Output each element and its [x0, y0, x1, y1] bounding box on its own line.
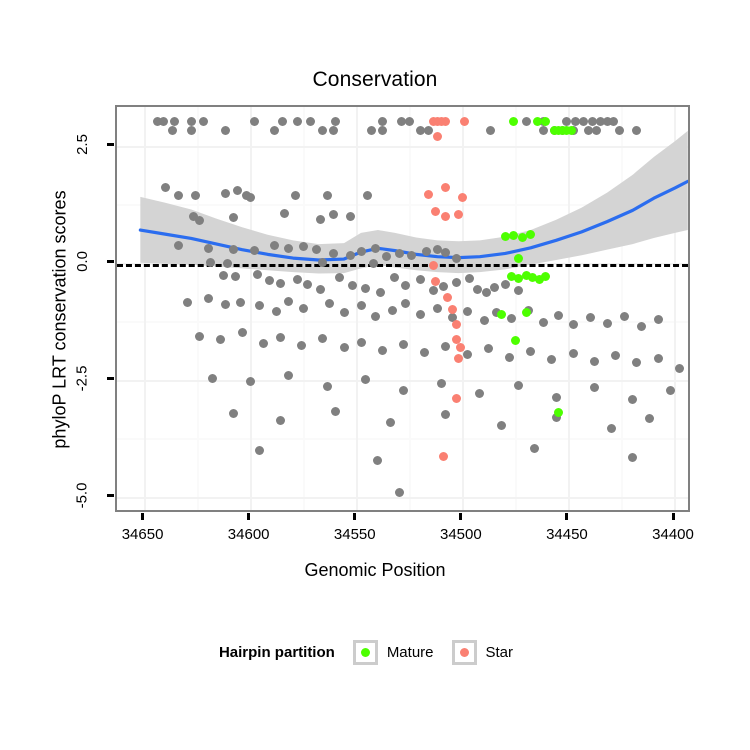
- data-point-other: [357, 247, 366, 256]
- data-point-mature: [509, 117, 518, 126]
- data-point-other: [204, 294, 213, 303]
- data-point-other: [611, 351, 620, 360]
- data-point-other: [329, 249, 338, 258]
- data-point-other: [361, 284, 370, 293]
- data-point-other: [236, 298, 245, 307]
- data-point-star: [429, 261, 438, 270]
- data-point-other: [331, 117, 340, 126]
- plot-panel: [115, 105, 690, 512]
- data-point-other: [376, 288, 385, 297]
- x-axis-tick: [141, 513, 144, 520]
- data-point-star: [452, 394, 461, 403]
- data-point-star: [448, 305, 457, 314]
- data-point-other: [378, 346, 387, 355]
- data-point-other: [539, 318, 548, 327]
- data-point-other: [429, 286, 438, 295]
- data-point-other: [170, 117, 179, 126]
- x-axis-tick: [247, 513, 250, 520]
- data-point-other: [272, 307, 281, 316]
- data-point-other: [340, 343, 349, 352]
- data-point-other: [482, 288, 491, 297]
- data-point-other: [255, 301, 264, 310]
- data-point-other: [325, 299, 334, 308]
- data-point-other: [422, 247, 431, 256]
- data-point-other: [433, 304, 442, 313]
- x-axis-tick: [672, 513, 675, 520]
- data-point-other: [323, 382, 332, 391]
- x-axis-tick-label: 34400: [652, 526, 694, 543]
- legend-key-mature: [353, 640, 378, 665]
- data-point-other: [223, 259, 232, 268]
- data-point-other: [586, 313, 595, 322]
- data-point-star: [452, 320, 461, 329]
- data-point-other: [480, 316, 489, 325]
- data-point-other: [399, 340, 408, 349]
- data-point-other: [250, 117, 259, 126]
- data-point-other: [378, 126, 387, 135]
- data-point-other: [270, 241, 279, 250]
- data-point-other: [401, 299, 410, 308]
- data-point-other: [399, 386, 408, 395]
- data-point-other: [401, 281, 410, 290]
- y-axis-tick: [107, 260, 114, 263]
- data-point-other: [208, 374, 217, 383]
- x-axis-tick: [459, 513, 462, 520]
- x-axis-tick: [353, 513, 356, 520]
- data-point-other: [204, 244, 213, 253]
- x-axis-tick-label: 34600: [228, 526, 270, 543]
- data-point-other: [270, 126, 279, 135]
- data-point-other: [554, 311, 563, 320]
- plot-area: [117, 107, 688, 510]
- data-point-other: [416, 310, 425, 319]
- data-point-other: [187, 117, 196, 126]
- data-point-other: [620, 312, 629, 321]
- loess-trend-line: [117, 107, 688, 510]
- data-point-other: [183, 298, 192, 307]
- data-point-other: [609, 117, 618, 126]
- data-point-other: [246, 193, 255, 202]
- data-point-mature: [497, 310, 506, 319]
- data-point-star: [441, 117, 450, 126]
- data-point-other: [569, 349, 578, 358]
- data-point-other: [306, 117, 315, 126]
- data-point-other: [514, 381, 523, 390]
- data-point-other: [452, 278, 461, 287]
- data-point-other: [278, 117, 287, 126]
- x-axis-tick-label: 34450: [546, 526, 588, 543]
- data-point-other: [159, 117, 168, 126]
- x-axis-tick: [565, 513, 568, 520]
- y-axis-title: phyloP LRT conservation scores: [50, 110, 71, 530]
- data-point-other: [405, 117, 414, 126]
- data-point-other: [416, 275, 425, 284]
- legend: Hairpin partition Mature Star: [0, 640, 750, 665]
- data-point-other: [367, 126, 376, 135]
- data-point-other: [654, 354, 663, 363]
- data-point-other: [284, 297, 293, 306]
- y-axis-tick: [107, 494, 114, 497]
- data-point-other: [463, 307, 472, 316]
- data-point-other: [497, 421, 506, 430]
- chart-title: Conservation: [0, 68, 750, 92]
- data-point-other: [463, 350, 472, 359]
- data-point-other: [316, 215, 325, 224]
- data-point-other: [168, 126, 177, 135]
- data-point-other: [346, 212, 355, 221]
- data-point-star: [454, 354, 463, 363]
- data-point-other: [276, 333, 285, 342]
- mature-dot-icon: [361, 648, 370, 657]
- data-point-other: [522, 117, 531, 126]
- data-point-other: [195, 332, 204, 341]
- legend-item-star[interactable]: Star: [452, 640, 514, 665]
- data-point-mature: [541, 117, 550, 126]
- legend-label-mature: Mature: [387, 644, 434, 661]
- data-point-other: [628, 395, 637, 404]
- data-point-other: [259, 339, 268, 348]
- data-point-other: [331, 407, 340, 416]
- data-point-other: [195, 216, 204, 225]
- data-point-other: [221, 126, 230, 135]
- y-axis-tick: [107, 377, 114, 380]
- star-dot-icon: [460, 648, 469, 657]
- data-point-other: [579, 117, 588, 126]
- data-point-other: [465, 274, 474, 283]
- data-point-other: [378, 117, 387, 126]
- data-point-other: [452, 254, 461, 263]
- data-point-other: [514, 286, 523, 295]
- data-point-other: [293, 117, 302, 126]
- data-point-other: [637, 322, 646, 331]
- data-point-star: [433, 132, 442, 141]
- data-point-other: [654, 315, 663, 324]
- data-point-other: [486, 126, 495, 135]
- data-point-other: [221, 189, 230, 198]
- data-point-other: [607, 424, 616, 433]
- data-point-other: [329, 210, 338, 219]
- y-axis-tick: [107, 143, 114, 146]
- data-point-other: [253, 270, 262, 279]
- x-axis-tick-label: 34550: [334, 526, 376, 543]
- data-point-mature: [554, 408, 563, 417]
- data-point-other: [340, 308, 349, 317]
- data-point-other: [645, 414, 654, 423]
- data-point-other: [346, 251, 355, 260]
- data-point-other: [437, 379, 446, 388]
- data-point-mature: [514, 254, 523, 263]
- data-point-other: [276, 279, 285, 288]
- data-point-other: [395, 249, 404, 258]
- data-point-other: [562, 117, 571, 126]
- data-point-other: [490, 283, 499, 292]
- data-point-other: [592, 126, 601, 135]
- data-point-other: [323, 191, 332, 200]
- data-point-star: [460, 117, 469, 126]
- data-point-other: [357, 301, 366, 310]
- data-point-other: [371, 312, 380, 321]
- data-point-star: [431, 207, 440, 216]
- legend-key-star: [452, 640, 477, 665]
- data-point-other: [265, 276, 274, 285]
- data-point-other: [357, 338, 366, 347]
- data-point-star: [431, 277, 440, 286]
- data-point-mature: [567, 126, 576, 135]
- legend-title: Hairpin partition: [219, 644, 335, 661]
- data-point-other: [219, 271, 228, 280]
- data-point-other: [539, 126, 548, 135]
- data-point-other: [255, 446, 264, 455]
- data-point-other: [293, 275, 302, 284]
- legend-label-star: Star: [486, 644, 514, 661]
- x-axis-tick-label: 34650: [122, 526, 164, 543]
- data-point-star: [441, 212, 450, 221]
- data-point-other: [329, 126, 338, 135]
- data-point-other: [299, 304, 308, 313]
- data-point-other: [361, 375, 370, 384]
- x-axis-title: Genomic Position: [0, 560, 750, 581]
- data-point-other: [569, 320, 578, 329]
- data-point-other: [603, 319, 612, 328]
- data-point-other: [187, 126, 196, 135]
- data-point-other: [439, 282, 448, 291]
- data-point-other: [501, 280, 510, 289]
- data-point-other: [276, 416, 285, 425]
- data-point-other: [552, 393, 561, 402]
- x-axis-tick-label: 34500: [440, 526, 482, 543]
- legend-item-mature[interactable]: Mature: [353, 640, 434, 665]
- data-point-other: [505, 353, 514, 362]
